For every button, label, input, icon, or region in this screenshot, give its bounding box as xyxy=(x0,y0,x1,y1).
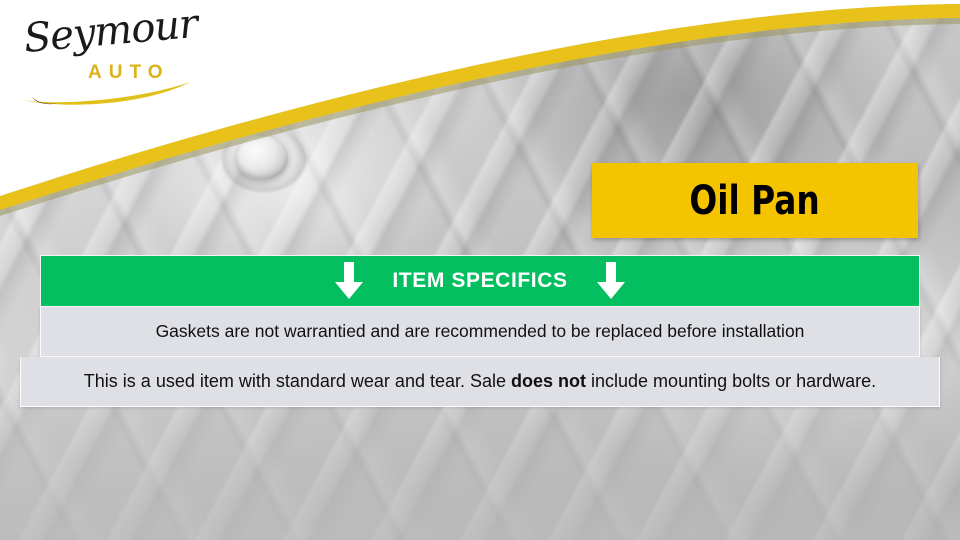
slide-canvas: Seymour AUTO Oil Pan ITEM SPECIFICS Gask… xyxy=(0,0,960,540)
row-text-prefix: This is a used item with standard wear a… xyxy=(84,371,511,391)
item-specifics-row-text: This is a used item with standard wear a… xyxy=(84,371,876,392)
row-text-suffix: include mounting bolts or hardware. xyxy=(586,371,876,391)
arrow-down-icon xyxy=(334,262,364,300)
arrow-down-icon xyxy=(596,262,626,300)
item-specifics-row: Gaskets are not warrantied and are recom… xyxy=(40,307,920,357)
row-text-emphasis: does not xyxy=(511,371,586,391)
part-title-box: Oil Pan xyxy=(592,163,918,238)
item-specifics-header: ITEM SPECIFICS xyxy=(40,255,920,307)
brand-logo-script: Seymour xyxy=(22,1,199,62)
brand-logo: Seymour AUTO xyxy=(14,10,199,105)
item-specifics-row: This is a used item with standard wear a… xyxy=(20,357,940,407)
item-specifics-header-label: ITEM SPECIFICS xyxy=(392,269,567,293)
item-specifics-table: ITEM SPECIFICS Gaskets are not warrantie… xyxy=(40,255,920,407)
brand-logo-subtitle: AUTO xyxy=(88,62,169,84)
item-specifics-row-text: Gaskets are not warrantied and are recom… xyxy=(156,321,805,342)
page-title: Oil Pan xyxy=(690,178,820,224)
